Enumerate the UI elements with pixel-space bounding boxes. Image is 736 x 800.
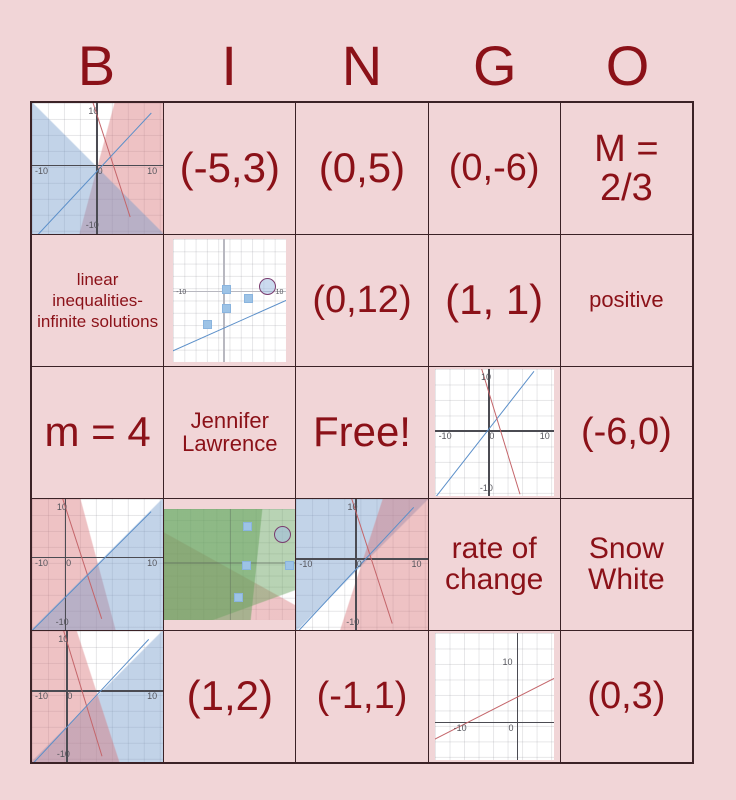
cell-b5-graph[interactable]: -10 0 10 10 -10	[31, 631, 164, 764]
gridlines	[435, 633, 554, 760]
table-row: linear inequalities-infinite solutions -…	[31, 235, 693, 367]
data-point	[244, 294, 253, 303]
x-axis	[435, 722, 554, 724]
data-point	[222, 285, 231, 294]
graph-inequality-two-lines-4: -10 0 10 10 -10	[32, 631, 163, 762]
cell-b1-graph[interactable]: -10 0 10 10 -10	[31, 102, 164, 235]
axis-label-y-ten: 10	[58, 634, 68, 644]
bingo-grid: -10 0 10 10 -10 (-5,3) (0,5) (0,-6) M = …	[30, 101, 694, 764]
axis-label-y-ten: 10	[57, 502, 67, 512]
graph-scatter-line-points: -10 10	[173, 239, 286, 362]
cell-g2-text[interactable]: (1, 1)	[428, 235, 560, 367]
axis-label-zero: 0	[98, 166, 103, 176]
axis-label-zero: 0	[357, 559, 362, 569]
cell-g5-graph[interactable]: -10 0 10	[428, 631, 560, 764]
cell-b3-text[interactable]: m = 4	[31, 367, 164, 499]
axis-label-neg-ten: -10	[299, 559, 312, 569]
cell-label: (-1,1)	[296, 677, 427, 716]
header-letter-o: O	[561, 34, 694, 98]
axis-label-y-ten: 10	[502, 657, 512, 667]
cell-o1-text[interactable]: M = 2/3	[560, 102, 693, 235]
y-axis	[230, 509, 232, 620]
cell-o4-text[interactable]: Snow White	[560, 499, 693, 631]
axis-label-zero: 0	[67, 691, 72, 701]
cell-label: (-5,3)	[164, 147, 295, 190]
cell-i1-text[interactable]: (-5,3)	[164, 102, 296, 235]
cell-label: (-6,0)	[561, 413, 692, 452]
highlight-circle	[274, 526, 291, 543]
header-letter-g: G	[428, 34, 561, 98]
cell-label: (0,3)	[561, 677, 692, 716]
cell-n2-text[interactable]: (0,12)	[296, 235, 428, 367]
axis-label-y-ten: 10	[348, 502, 358, 512]
table-row: m = 4 Jennifer Lawrence Free! -10 0 10	[31, 367, 693, 499]
bingo-card: B I N G O -10 0 10 10	[0, 0, 736, 800]
axis-label-neg-ten: -10	[35, 691, 48, 701]
axis-label-zero: 0	[489, 431, 494, 441]
cell-i5-text[interactable]: (1,2)	[164, 631, 296, 764]
x-axis	[32, 557, 163, 559]
header-letter-b: B	[30, 34, 163, 98]
axis-label-neg-ten: -10	[35, 558, 48, 568]
header-letter-n: N	[296, 34, 429, 98]
cell-g4-text[interactable]: rate of change	[428, 499, 560, 631]
axis-label-x-ten: 10	[147, 691, 157, 701]
cell-label: rate of change	[429, 534, 560, 595]
cell-b2-text[interactable]: linear inequalities-infinite solutions	[31, 235, 164, 367]
cell-label: positive	[561, 289, 692, 311]
cell-label: Snow White	[561, 534, 692, 595]
data-point	[234, 593, 243, 602]
bingo-header: B I N G O	[30, 34, 694, 98]
cell-i2-graph[interactable]: -10 10	[164, 235, 296, 367]
cell-label: (0,12)	[296, 281, 427, 320]
axis-label-y-ten: 10	[88, 106, 98, 116]
y-axis	[223, 239, 225, 362]
table-row: -10 0 10 10 -10	[31, 499, 693, 631]
cell-label: linear inequalities-infinite solutions	[32, 269, 163, 333]
graph-green-feasible-region	[164, 509, 295, 620]
cell-label: m = 4	[32, 411, 163, 454]
cell-g3-graph[interactable]: -10 0 10 10 -10	[428, 367, 560, 499]
cell-o3-text[interactable]: (-6,0)	[560, 367, 693, 499]
axis-label-neg-ten: -10	[176, 289, 186, 296]
axis-label-y-neg-ten: -10	[346, 617, 359, 627]
graph-inequality-two-lines-1: -10 0 10 10 -10	[32, 103, 163, 234]
graph-single-red-line: -10 0 10	[435, 633, 554, 760]
axis-label-x-ten: 10	[412, 559, 422, 569]
cell-n3-free[interactable]: Free!	[296, 367, 428, 499]
cell-i3-text[interactable]: Jennifer Lawrence	[164, 367, 296, 499]
free-space-label: Free!	[296, 411, 427, 454]
axis-label-y-ten: 10	[481, 372, 491, 382]
data-point	[203, 320, 212, 329]
data-point	[243, 522, 252, 531]
cell-g1-text[interactable]: (0,-6)	[428, 102, 560, 235]
data-point	[222, 304, 231, 313]
axis-label-neg-ten: -10	[439, 431, 452, 441]
graph-inequality-two-lines-2: -10 0 10 10 -10	[32, 499, 163, 630]
axis-label-x-ten: 10	[147, 166, 157, 176]
data-point	[242, 561, 251, 570]
axis-label-neg-ten: -10	[35, 166, 48, 176]
axis-label-x-ten: 10	[540, 431, 550, 441]
axis-label-y-neg-ten: -10	[56, 617, 69, 627]
cell-o5-text[interactable]: (0,3)	[560, 631, 693, 764]
axis-label-neg-ten: -10	[454, 723, 467, 733]
table-row: -10 0 10 10 -10 (-5,3) (0,5) (0,-6) M = …	[31, 102, 693, 235]
cell-label: (1, 1)	[429, 279, 560, 322]
cell-label: (1,2)	[164, 675, 295, 718]
x-axis	[296, 558, 427, 560]
cell-n4-graph[interactable]: -10 0 10 10 -10	[296, 499, 428, 631]
header-letter-i: I	[163, 34, 296, 98]
cell-o2-text[interactable]: positive	[560, 235, 693, 367]
axis-label-zero: 0	[508, 723, 513, 733]
cell-n5-text[interactable]: (-1,1)	[296, 631, 428, 764]
cell-label: (0,5)	[296, 147, 427, 190]
graph-two-lines-intersecting: -10 0 10 10 -10	[435, 369, 554, 496]
axis-label-x-ten: 10	[276, 289, 284, 296]
axis-label-zero: 0	[66, 558, 71, 568]
cell-b4-graph[interactable]: -10 0 10 10 -10	[31, 499, 164, 631]
axis-label-x-ten: 10	[147, 558, 157, 568]
axis-label-y-neg-ten: -10	[480, 483, 493, 493]
axis-label-y-neg-ten: -10	[86, 220, 99, 230]
cell-label: M = 2/3	[561, 130, 692, 208]
cell-n1-text[interactable]: (0,5)	[296, 102, 428, 235]
cell-label: (0,-6)	[429, 149, 560, 188]
data-point	[285, 561, 294, 570]
x-axis	[32, 690, 163, 692]
cell-label: Jennifer Lawrence	[164, 410, 295, 455]
graph-inequality-two-lines-3: -10 0 10 10 -10	[296, 499, 427, 630]
table-row: -10 0 10 10 -10 (1,2) (-1,1)	[31, 631, 693, 764]
axis-label-y-neg-ten: -10	[57, 749, 70, 759]
cell-i4-graph[interactable]	[164, 499, 296, 631]
